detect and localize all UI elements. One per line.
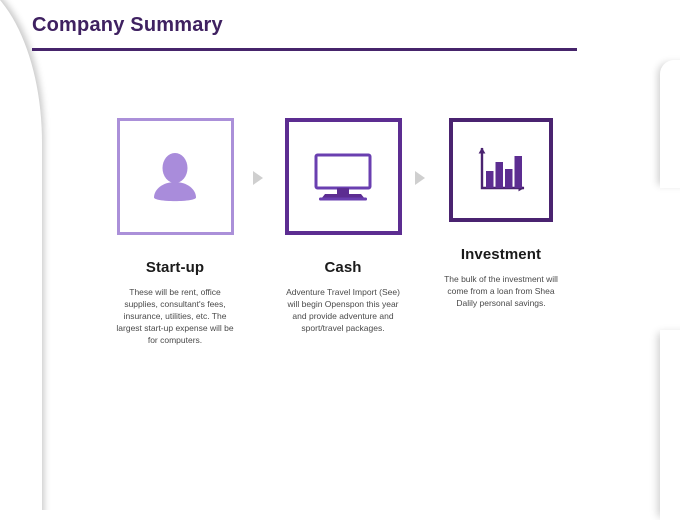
step-title-investment: Investment: [437, 246, 565, 263]
step-title-cash: Cash: [268, 259, 418, 276]
slide-surface: Company Summary Start-up These will be r…: [0, 0, 618, 510]
step-title-start-up: Start-up: [100, 259, 250, 276]
icon-box-cash[interactable]: [285, 118, 402, 235]
arrow-right-icon-2: [415, 171, 425, 185]
flow-step-start-up[interactable]: Start-up These will be rent, office supp…: [100, 118, 250, 346]
flow-step-investment[interactable]: Investment The bulk of the investment wi…: [437, 118, 565, 309]
step-body-cash: Adventure Travel Import (See) will begin…: [268, 286, 418, 334]
step-body-investment: The bulk of the investment will come fro…: [437, 273, 565, 309]
header: Company Summary: [32, 14, 223, 37]
side-panel-top[interactable]: [660, 60, 680, 188]
person-icon: [148, 151, 202, 203]
title-underline-rule: [32, 48, 577, 51]
flow-step-cash[interactable]: Cash Adventure Travel Import (See) will …: [268, 118, 418, 334]
arrow-right-icon-1: [253, 171, 263, 185]
icon-box-investment[interactable]: [449, 118, 553, 222]
icon-box-start-up[interactable]: [117, 118, 234, 235]
process-flow: Start-up These will be rent, office supp…: [0, 118, 618, 388]
page-title: Company Summary: [32, 14, 223, 37]
step-body-start-up: These will be rent, office supplies, con…: [100, 286, 250, 346]
bar-chart-icon: [474, 145, 528, 195]
side-panel-bottom[interactable]: [660, 330, 680, 520]
monitor-icon: [312, 152, 374, 202]
